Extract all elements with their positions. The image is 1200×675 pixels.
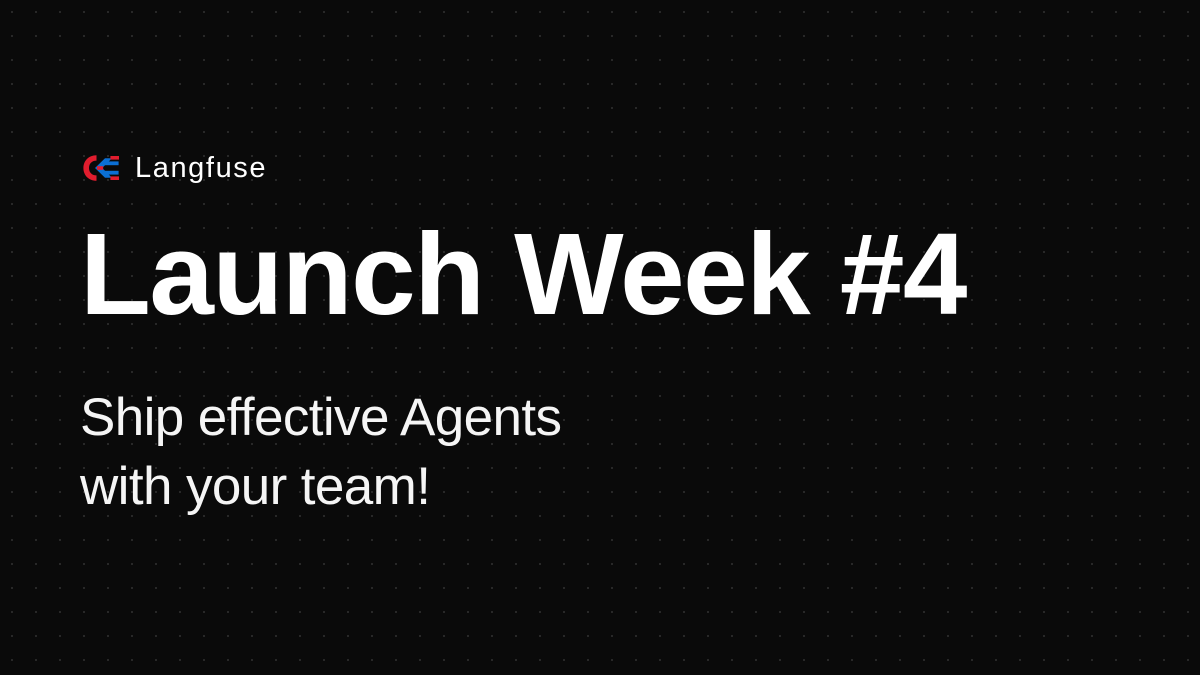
page-title: Launch Week #4 [80, 219, 1200, 329]
brand-lockup: Langfuse [80, 148, 1200, 188]
banner-content: Langfuse Launch Week #4 Ship effective A… [0, 0, 1200, 675]
subtitle: Ship effective Agents with your team! [80, 384, 1200, 522]
subtitle-line-2: with your team! [80, 453, 1200, 522]
subtitle-line-1: Ship effective Agents [80, 384, 1200, 453]
brand-wordmark: Langfuse [135, 154, 267, 183]
launch-week-banner: Langfuse Launch Week #4 Ship effective A… [0, 0, 1200, 675]
langfuse-logo-mark-icon [80, 153, 120, 183]
